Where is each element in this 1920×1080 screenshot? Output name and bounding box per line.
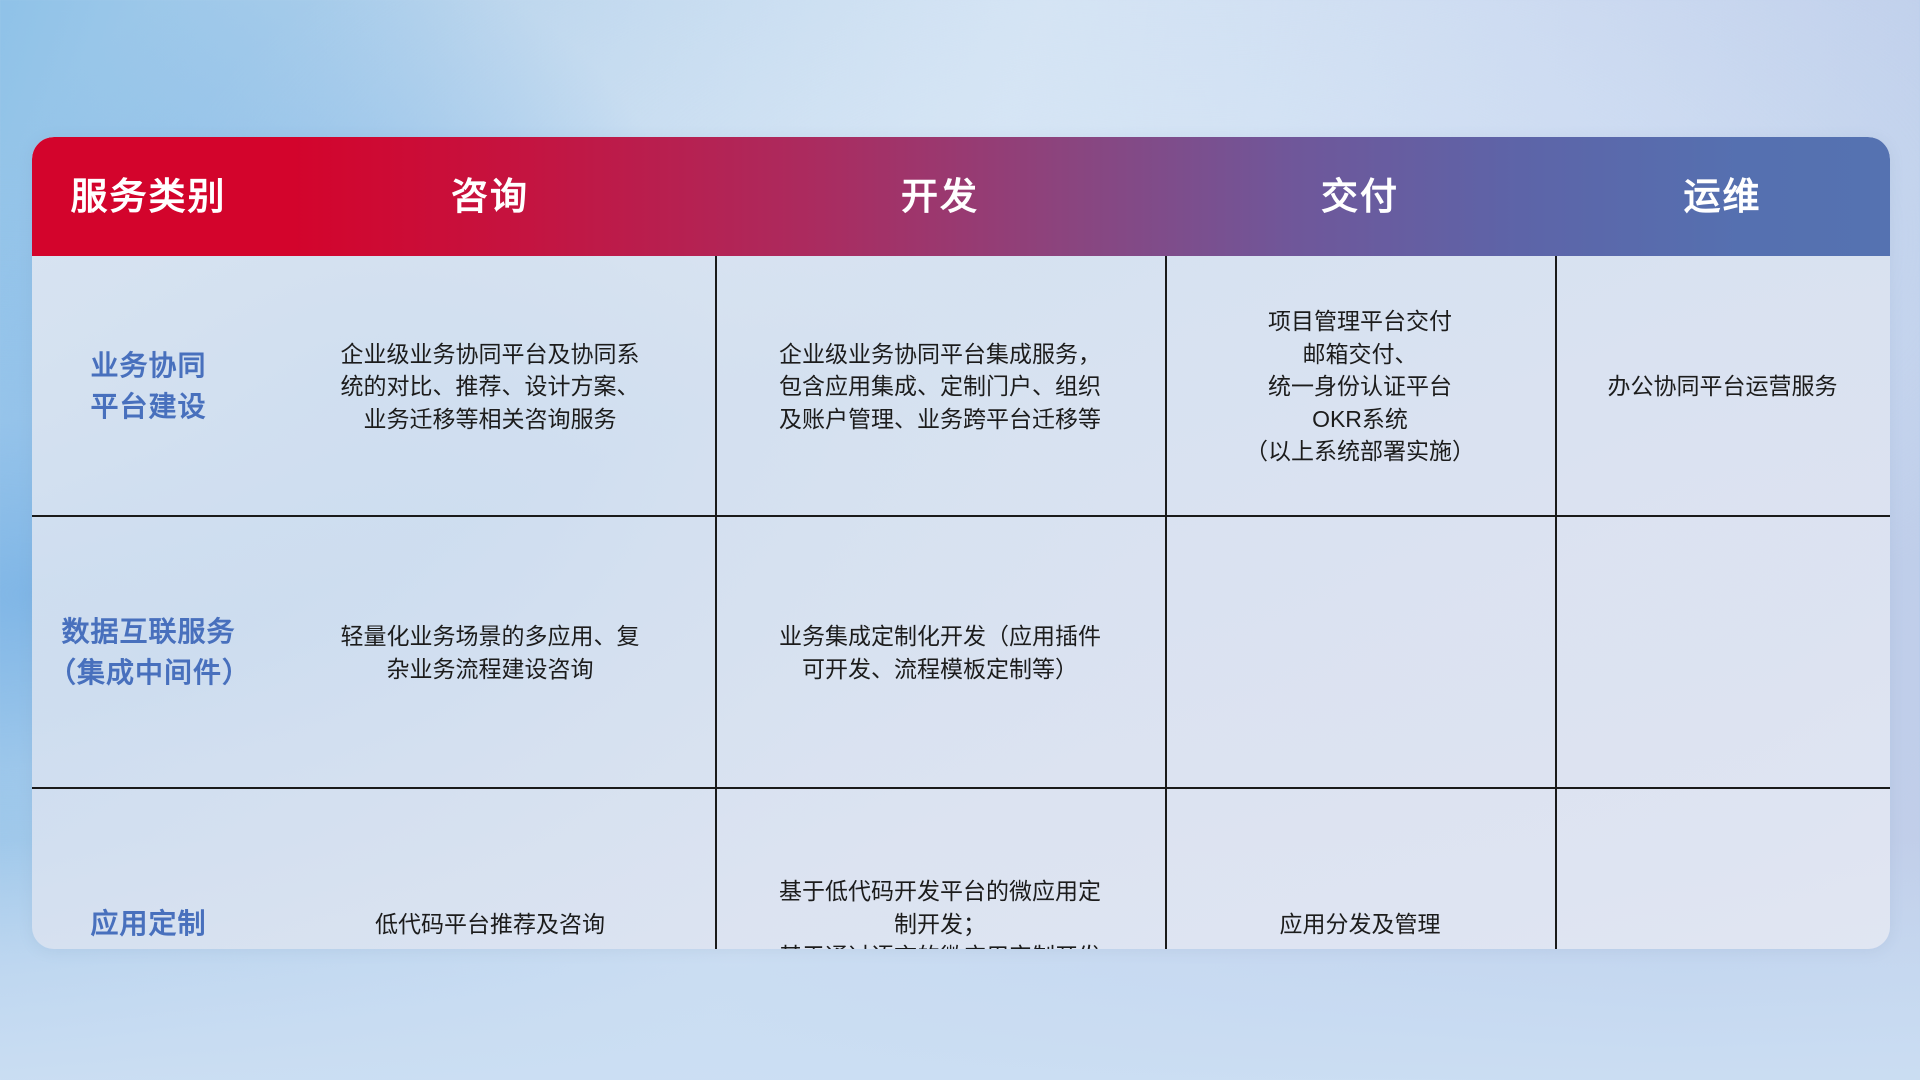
- table-row: 应用定制 低代码平台推荐及咨询 基于低代码开发平台的微应用定 制开发； 基于通过…: [32, 789, 1890, 949]
- table-row: 业务协同 平台建设 企业级业务协同平台及协同系 统的对比、推荐、设计方案、 业务…: [32, 256, 1890, 517]
- cell-row2-development: 基于低代码开发平台的微应用定 制开发； 基于通过语言的微应用定制开发: [715, 789, 1165, 949]
- table-header-row: 服务类别 咨询 开发 交付 运维: [32, 137, 1890, 256]
- cell-row0-development: 企业级业务协同平台集成服务， 包含应用集成、定制门户、组织 及账户管理、业务跨平…: [715, 256, 1165, 517]
- column-header-consulting: 咨询: [265, 178, 715, 215]
- cell-row1-operations: [1555, 517, 1890, 789]
- table-body: 业务协同 平台建设 企业级业务协同平台及协同系 统的对比、推荐、设计方案、 业务…: [32, 256, 1890, 949]
- cell-row0-delivery: 项目管理平台交付 邮箱交付、 统一身份认证平台 OKR系统 （以上系统部署实施）: [1165, 256, 1555, 517]
- cell-row0-operations: 办公协同平台运营服务: [1555, 256, 1890, 517]
- column-header-delivery: 交付: [1165, 178, 1555, 215]
- row-label-data-interconnect-service: 数据互联服务 （集成中间件）: [32, 517, 265, 789]
- table-row: 数据互联服务 （集成中间件） 轻量化业务场景的多应用、复 杂业务流程建设咨询 业…: [32, 517, 1890, 789]
- cell-row1-delivery: [1165, 517, 1555, 789]
- service-matrix-table: 服务类别 咨询 开发 交付 运维 业务协同 平台建设 企业级业务协同平台及协同系…: [32, 137, 1890, 949]
- column-header-service-category: 服务类别: [32, 178, 265, 215]
- cell-row2-consulting: 低代码平台推荐及咨询: [265, 789, 715, 949]
- cell-row2-operations: [1555, 789, 1890, 949]
- column-header-operations: 运维: [1555, 178, 1890, 215]
- column-header-development: 开发: [715, 178, 1165, 215]
- cell-row0-consulting: 企业级业务协同平台及协同系 统的对比、推荐、设计方案、 业务迁移等相关咨询服务: [265, 256, 715, 517]
- row-label-business-collaboration-platform: 业务协同 平台建设: [32, 256, 265, 517]
- cell-row2-delivery: 应用分发及管理: [1165, 789, 1555, 949]
- row-label-application-customization: 应用定制: [32, 789, 265, 949]
- cell-row1-development: 业务集成定制化开发（应用插件 可开发、流程模板定制等）: [715, 517, 1165, 789]
- cell-row1-consulting: 轻量化业务场景的多应用、复 杂业务流程建设咨询: [265, 517, 715, 789]
